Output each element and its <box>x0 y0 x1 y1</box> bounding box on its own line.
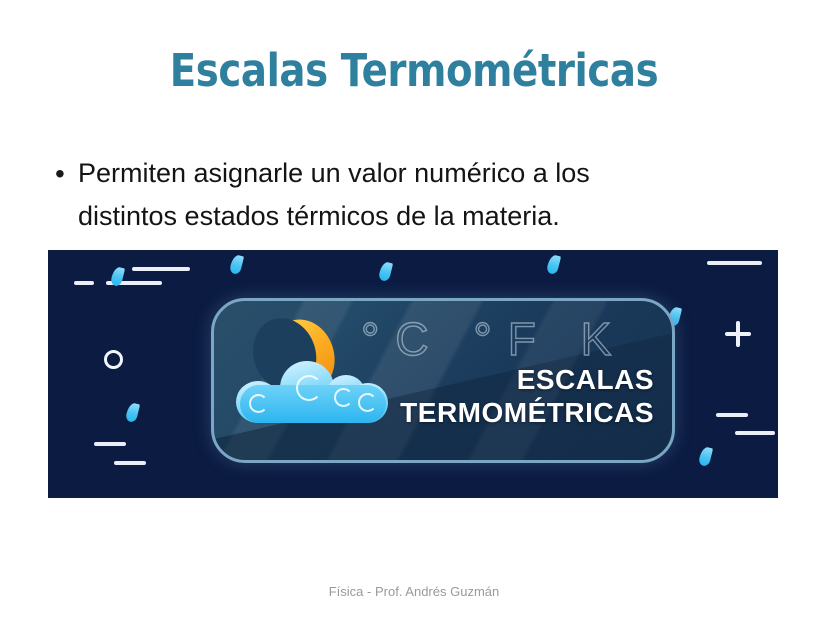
dash-decoration <box>114 461 146 465</box>
card-title-line-2: TERMOMÉTRICAS <box>400 396 654 429</box>
dash-decoration <box>94 442 126 446</box>
list-item: • Permiten asignarle un valor numérico a… <box>52 152 778 238</box>
raindrop-icon <box>698 446 713 467</box>
cloud-swirl <box>334 388 353 407</box>
bullet-list: • Permiten asignarle un valor numérico a… <box>52 152 778 238</box>
bullet-line-1: Permiten asignarle un valor numérico a l… <box>78 158 590 188</box>
weather-card: °C °F K ESCALAS TERMOMÉTRICAS <box>211 298 675 463</box>
card-title-line-1: ESCALAS <box>400 363 654 396</box>
raindrop-icon <box>378 261 393 282</box>
slide-image: °C °F K ESCALAS TERMOMÉTRICAS <box>48 250 778 498</box>
page-title: Escalas Termométricas <box>58 44 770 98</box>
temperature-scale-symbols: °C °F K <box>361 313 627 365</box>
dash-decoration <box>716 413 748 417</box>
bullet-marker: • <box>52 152 78 195</box>
plus-decoration <box>736 321 740 347</box>
dash-decoration <box>74 281 94 285</box>
cloud-swirl <box>249 394 268 413</box>
raindrop-icon <box>125 402 140 423</box>
dash-decoration <box>735 431 775 435</box>
slide: Escalas Termométricas • Permiten asignar… <box>0 0 828 621</box>
cloud-swirl <box>358 393 377 412</box>
slide-footer: Física - Prof. Andrés Guzmán <box>0 584 828 599</box>
dash-decoration <box>132 267 190 271</box>
bullet-line-2: distintos estados térmicos de la materia… <box>78 195 778 238</box>
raindrop-icon <box>229 254 244 275</box>
dash-decoration <box>707 261 762 265</box>
cloud-icon <box>236 361 388 423</box>
bullet-text: Permiten asignarle un valor numérico a l… <box>78 152 778 238</box>
cloud-swirl <box>296 375 322 401</box>
moon-cloud-icon <box>234 319 394 439</box>
card-title: ESCALAS TERMOMÉTRICAS <box>400 363 654 429</box>
ring-decoration <box>104 350 123 369</box>
raindrop-icon <box>546 254 561 275</box>
